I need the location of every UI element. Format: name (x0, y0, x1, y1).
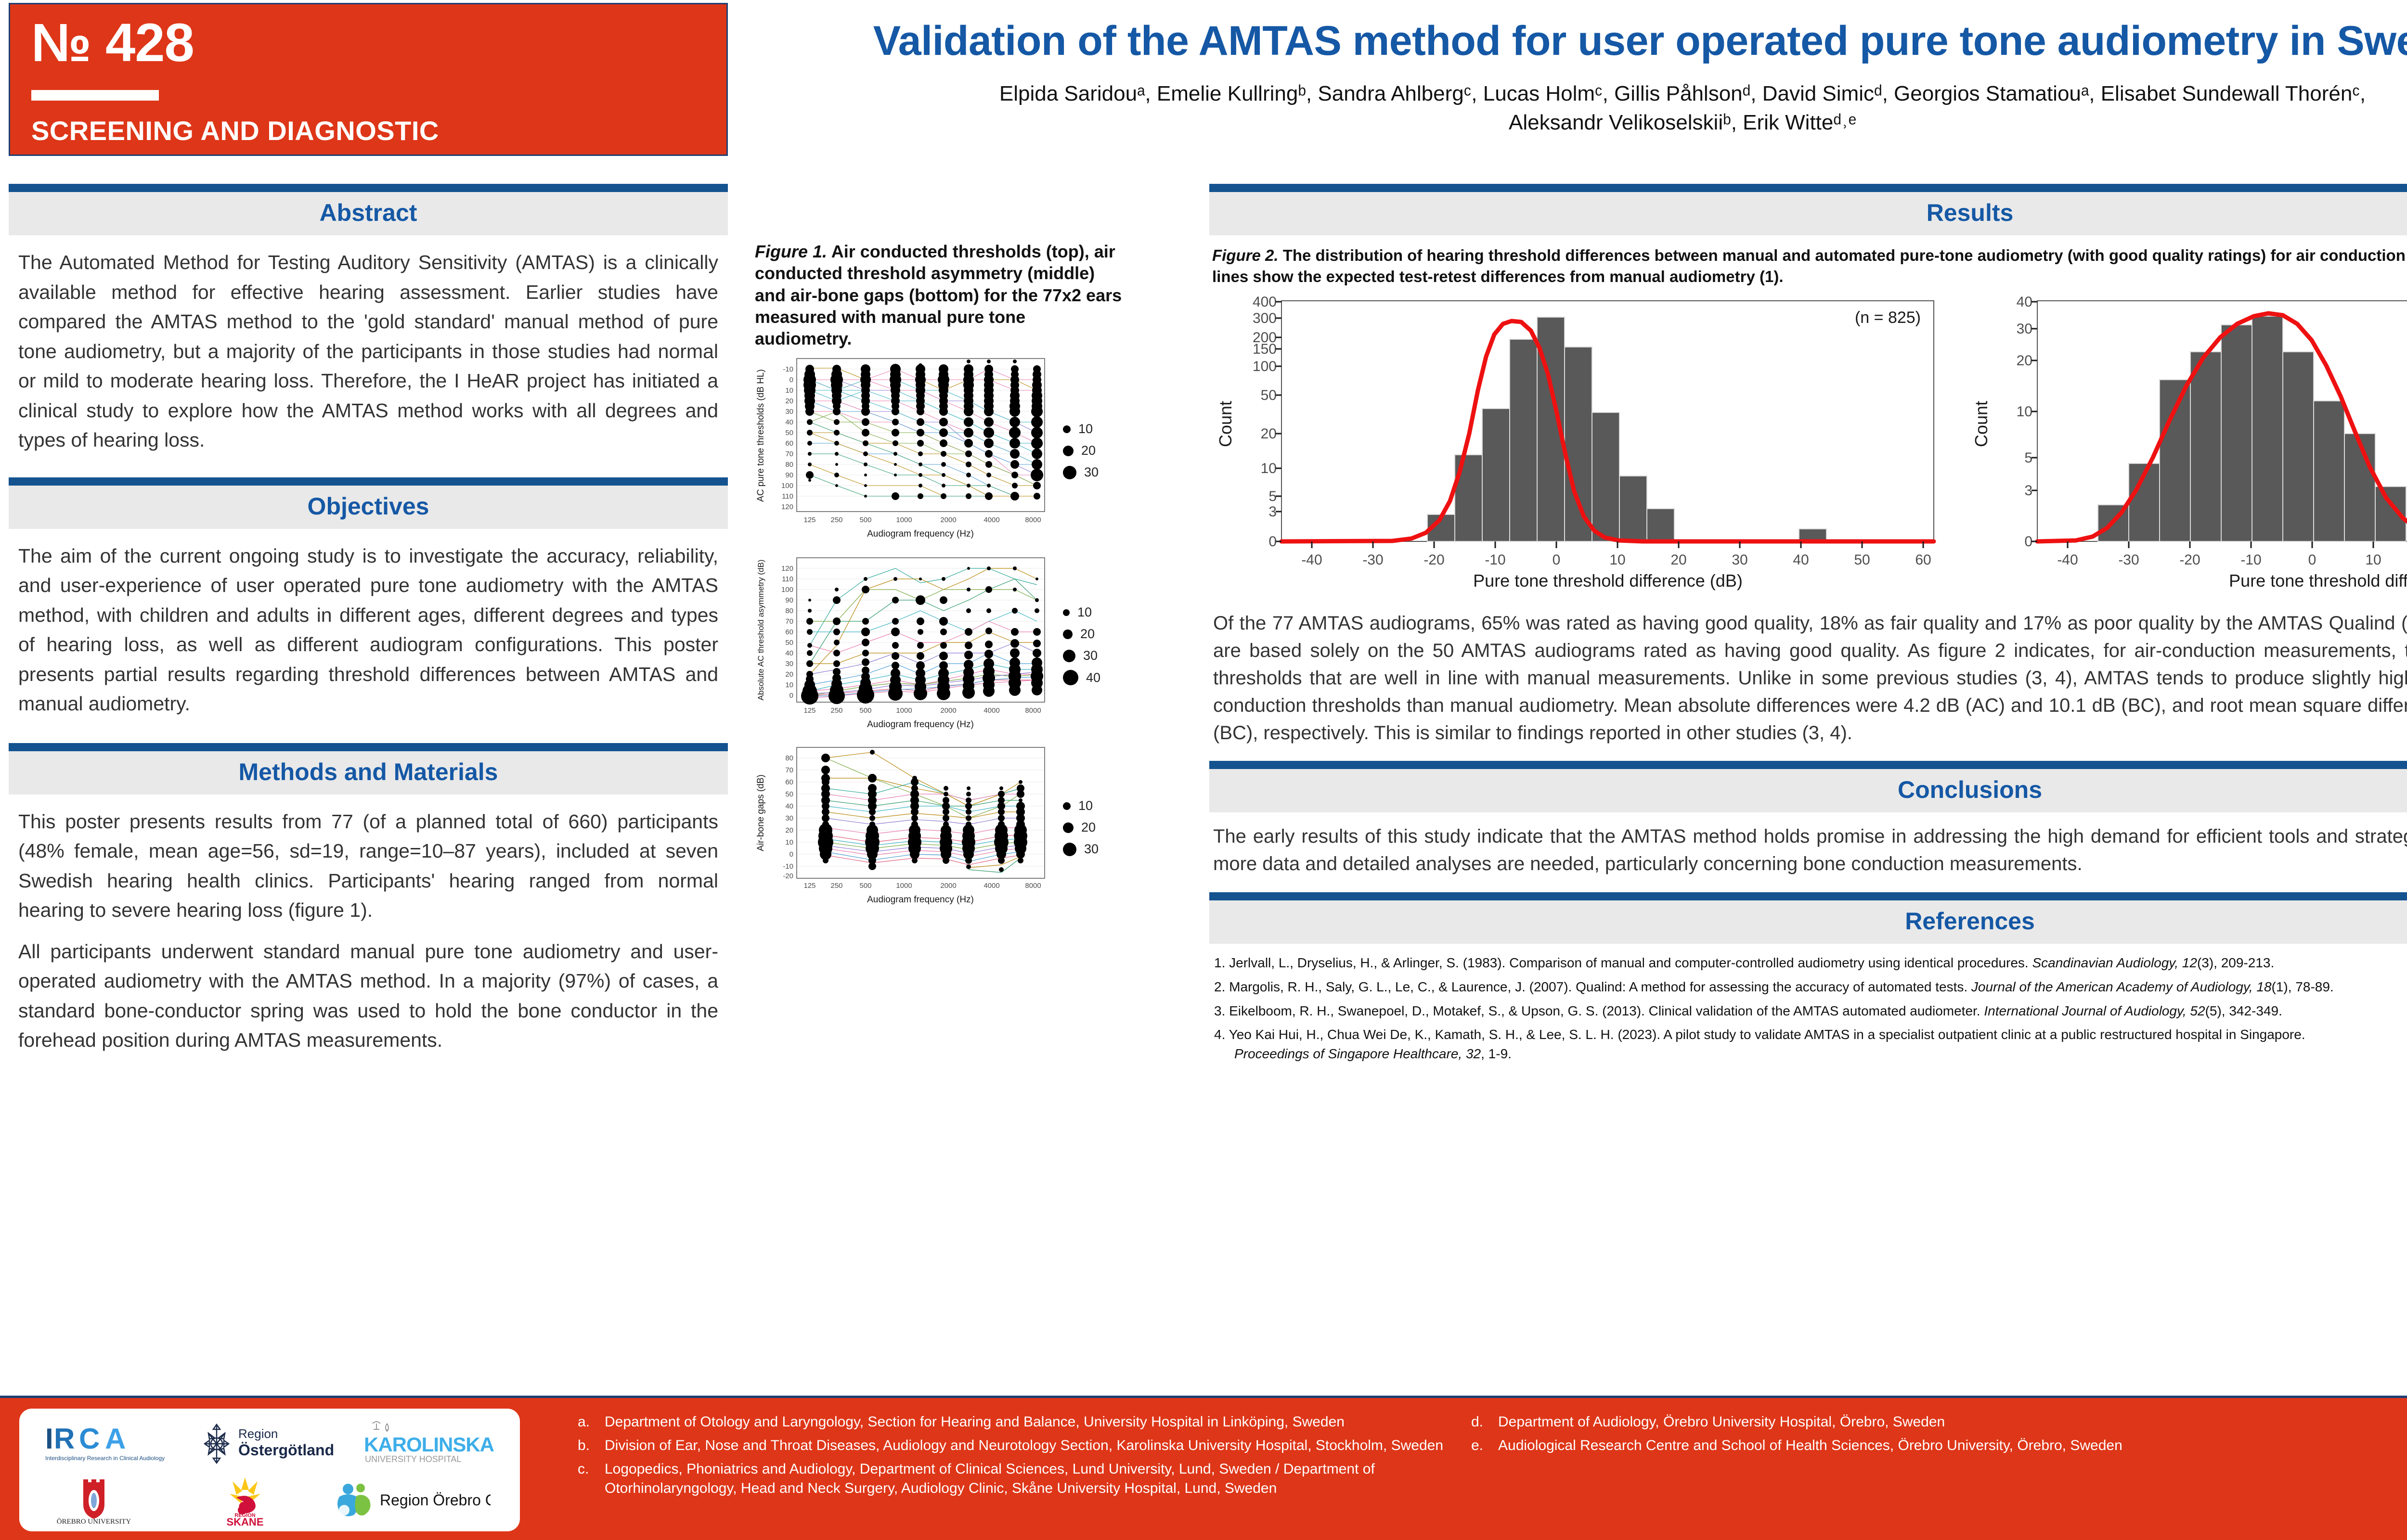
legend-label: 30 (1084, 842, 1099, 857)
objectives-text: The aim of the current ongoing study is … (9, 529, 728, 719)
legend-item: 20 (1063, 443, 1122, 458)
legend-bubble-icon (1063, 650, 1075, 662)
divider-rule (31, 90, 159, 101)
bc-hist-xlabel: Pure tone threshold difference (dB) (2229, 571, 2407, 590)
svg-text:8000: 8000 (1025, 882, 1041, 890)
bone-conduction-histogram: 403020 1053 0 (1965, 294, 2407, 597)
svg-text:I: I (45, 1423, 53, 1455)
section-header-objectives: Objectives (9, 477, 728, 529)
svg-text:125: 125 (803, 706, 815, 715)
svg-text:0: 0 (2024, 534, 2032, 550)
svg-text:110: 110 (782, 492, 793, 500)
affiliations-right: d. Department of Audiology, Örebro Unive… (1471, 1412, 2338, 1502)
svg-text:20: 20 (1261, 426, 1277, 442)
svg-text:50: 50 (1261, 387, 1277, 403)
svg-text:-10: -10 (2240, 552, 2261, 568)
conclusions-text: The early results of this study indicate… (1209, 812, 2407, 878)
svg-text:20: 20 (1670, 552, 1686, 568)
svg-text:120: 120 (781, 503, 793, 511)
svg-text:10: 10 (1609, 552, 1625, 568)
reference-journal: Proceedings of Singapore Healthcare, 32 (1234, 1046, 1481, 1061)
svg-text:4000: 4000 (984, 516, 999, 524)
section-header-conclusions: Conclusions (1209, 761, 2407, 812)
affiliations: a. Department of Otology and Laryngology… (578, 1412, 2359, 1502)
svg-text:60: 60 (1915, 552, 1931, 568)
figure2-caption-body: The distribution of hearing threshold di… (1212, 246, 2407, 285)
svg-text:1000: 1000 (896, 706, 912, 715)
svg-text:Östergötland: Östergötland (238, 1441, 334, 1459)
poster-number: № 428 (31, 16, 705, 70)
svg-text:500: 500 (859, 516, 871, 524)
orebro-university-logo: ÖREBRO UNIVERSITY (49, 1472, 159, 1529)
legend-item: 30 (1063, 842, 1122, 857)
figure1-column: Figure 1. Air conducted thresholds (top)… (751, 241, 1126, 912)
svg-text:150: 150 (1253, 341, 1277, 357)
legend-label: 30 (1084, 465, 1099, 480)
svg-text:1000: 1000 (896, 516, 912, 524)
svg-text:C: C (79, 1423, 100, 1455)
figure1-panel-ac-thresholds: -10010 203040 506070 8090100 110120 1252… (751, 355, 1126, 547)
legend-item: 10 (1063, 798, 1122, 813)
svg-text:40: 40 (2017, 294, 2032, 310)
legend-bubble-icon (1063, 609, 1070, 616)
affiliation-key: c. (578, 1460, 605, 1499)
legend-label: 20 (1080, 627, 1095, 642)
svg-text:400: 400 (1253, 294, 1277, 310)
right-column: Results Figure 2. The distribution of he… (1209, 184, 2407, 1068)
legend-bubble-icon (1063, 425, 1071, 433)
affiliation-text: Department of Otology and Laryngology, S… (605, 1412, 1444, 1432)
figure1-caption: Figure 1. Air conducted thresholds (top)… (751, 241, 1126, 355)
svg-text:110: 110 (782, 575, 793, 583)
svg-text:-20: -20 (783, 872, 793, 880)
figure1-caption-prefix: Figure 1. (755, 242, 827, 261)
svg-text:4000: 4000 (984, 706, 999, 715)
svg-text:125: 125 (803, 882, 815, 890)
legend-label: 40 (1086, 670, 1100, 685)
methods-paragraph-1: This poster presents results from 77 (of… (9, 795, 728, 925)
svg-text:30: 30 (1732, 552, 1747, 568)
svg-text:90: 90 (785, 471, 793, 479)
svg-text:-40: -40 (1301, 552, 1322, 568)
svg-text:70: 70 (785, 617, 793, 626)
poster-footer: I R C A Interdisciplinary Research in Cl… (0, 1396, 2407, 1540)
reference-text: 3. Eikelboom, R. H., Swanepoel, D., Mota… (1214, 1003, 1984, 1018)
svg-text:3: 3 (1268, 504, 1277, 520)
reference-text: 2. Margolis, R. H., Saly, G. L., Le, C.,… (1214, 979, 1971, 994)
ac-hist-xlabel: Pure tone threshold difference (dB) (1473, 571, 1743, 590)
reference-text: 1. Jerlvall, L., Dryselius, H., & Arling… (1214, 955, 2032, 970)
legend-item: 40 (1063, 670, 1122, 685)
svg-text:-10: -10 (783, 862, 793, 871)
svg-text:30: 30 (785, 660, 793, 668)
reference-pages: (5), 342-349. (2205, 1003, 2282, 1018)
figure2-charts: 400300200 15010050 20105 30 (1209, 290, 2407, 597)
reference-pages: (1), 78-89. (2272, 979, 2334, 994)
references-list: 1. Jerlvall, L., Dryselius, H., & Arling… (1209, 944, 2407, 1064)
svg-text:3: 3 (2024, 483, 2032, 499)
legend-label: 20 (1081, 443, 1096, 458)
legend-label: 10 (1077, 605, 1092, 620)
methods-paragraph-2: All participants underwent standard manu… (9, 925, 728, 1055)
svg-text:70: 70 (785, 766, 793, 774)
affiliation-item: b. Division of Ear, Nose and Throat Dise… (578, 1436, 1444, 1456)
legend-item: 30 (1063, 465, 1122, 480)
air-conduction-histogram: 400300200 15010050 20105 30 (1209, 294, 1946, 597)
svg-text:Region Örebro County: Region Örebro County (380, 1491, 491, 1509)
svg-text:5: 5 (2024, 450, 2032, 466)
affiliation-item: c. Logopedics, Phoniatrics and Audiology… (578, 1460, 1444, 1499)
poster-number-box: № 428 SCREENING AND DIAGNOSTIC (9, 3, 728, 156)
abstract-body: The Automated Method for Testing Auditor… (18, 251, 718, 451)
figure1-panel-ac-asymmetry: 120110100 908070 605040 302010 0 1252505… (751, 554, 1126, 737)
region-orebro-county-logo: Region Örebro County (332, 1472, 491, 1529)
affiliation-text: Logopedics, Phoniatrics and Audiology, D… (605, 1460, 1444, 1499)
reference-item: 2. Margolis, R. H., Saly, G. L., Le, C.,… (1214, 977, 2407, 997)
svg-text:-10: -10 (1485, 552, 1505, 568)
svg-text:80: 80 (785, 607, 793, 615)
svg-text:300: 300 (1253, 310, 1277, 326)
svg-text:2000: 2000 (940, 882, 956, 890)
section-header-results: Results (1209, 184, 2407, 235)
figure1-panel-air-bone-gaps: 807060 504030 20100 -10-20 125250500 100… (751, 744, 1126, 912)
ac-thresholds-xlabel: Audiogram frequency (Hz) (867, 529, 974, 539)
svg-text:40: 40 (785, 418, 793, 426)
reference-journal: International Journal of Audiology, 52 (1984, 1003, 2205, 1018)
svg-text:100: 100 (781, 586, 793, 594)
reference-item: 4. Yeo Kai Hui, H., Chua Wei De, K., Kam… (1214, 1025, 2407, 1064)
svg-text:50: 50 (785, 639, 793, 647)
svg-text:50: 50 (785, 790, 793, 798)
left-column: Abstract The Automated Method for Testin… (9, 184, 728, 1055)
affiliation-item: d. Department of Audiology, Örebro Unive… (1471, 1412, 2338, 1432)
svg-text:125: 125 (803, 516, 815, 524)
svg-text:50: 50 (785, 429, 793, 437)
affiliation-text: Department of Audiology, Örebro Universi… (1498, 1412, 2338, 1432)
svg-text:0: 0 (789, 850, 793, 859)
svg-text:8000: 8000 (1025, 706, 1041, 715)
svg-text:0: 0 (789, 692, 793, 700)
svg-text:UNIVERSITY HOSPITAL: UNIVERSITY HOSPITAL (365, 1454, 461, 1464)
svg-text:250: 250 (830, 516, 842, 524)
reference-journal: Journal of the American Academy of Audio… (1971, 979, 2272, 994)
legend-item: 20 (1063, 627, 1122, 642)
svg-text:120: 120 (781, 565, 793, 573)
svg-text:-10: -10 (783, 365, 793, 373)
legend-label: 10 (1078, 422, 1093, 436)
legend-bubble-icon (1063, 466, 1076, 479)
affiliation-item: a. Department of Otology and Laryngology… (578, 1412, 1444, 1432)
svg-text:0: 0 (1553, 552, 1561, 568)
svg-text:10: 10 (1261, 461, 1277, 476)
svg-text:250: 250 (830, 882, 842, 890)
reference-pages: (3), 209-213. (2197, 955, 2274, 970)
affiliation-item: e. Audiological Research Centre and Scho… (1471, 1436, 2338, 1456)
page-title: Validation of the AMTAS method for user … (751, 9, 2407, 63)
reference-item: 3. Eikelboom, R. H., Swanepoel, D., Mota… (1214, 1001, 2407, 1021)
ac-thresholds-ylabel: AC pure tone thresholds (dB HL) (756, 369, 766, 502)
legend-label: 10 (1078, 798, 1093, 813)
svg-text:ÖREBRO UNIVERSITY: ÖREBRO UNIVERSITY (57, 1517, 131, 1526)
reference-journal: Scandinavian Audiology, 12 (2032, 955, 2197, 970)
ac-thresholds-plot: -10010 203040 506070 8090100 110120 1252… (751, 355, 1054, 547)
reference-text: 4. Yeo Kai Hui, H., Chua Wei De, K., Kam… (1214, 1027, 2305, 1042)
svg-text:10: 10 (2365, 552, 2381, 568)
section-header-references: References (1209, 892, 2407, 944)
svg-text:A: A (105, 1423, 126, 1455)
affiliation-key: d. (1471, 1412, 1498, 1432)
svg-text:60: 60 (785, 628, 793, 636)
legend-bubble-icon (1063, 843, 1076, 856)
title-block: Validation of the AMTAS method for user … (751, 9, 2407, 167)
ac-asymmetry-xlabel: Audiogram frequency (Hz) (867, 719, 974, 730)
poster-track-label: SCREENING AND DIAGNOSTIC (31, 115, 705, 146)
sponsor-logos: I R C A Interdisciplinary Research in Cl… (19, 1409, 520, 1531)
legend-bubble-icon (1063, 670, 1078, 685)
svg-text:Region: Region (238, 1426, 278, 1441)
legend-item: 20 (1063, 820, 1122, 835)
svg-text:40: 40 (785, 802, 793, 810)
region-ostergotland-logo: Region Östergötland (195, 1415, 335, 1472)
svg-text:80: 80 (785, 461, 793, 469)
section-header-abstract: Abstract (9, 184, 728, 235)
author-line-2: Aleksandr Velikoselskiiᵇ, Erik Witteᵈ˒ᵉ (780, 108, 2407, 137)
svg-text:90: 90 (785, 596, 793, 604)
legend-item: 10 (1063, 605, 1122, 620)
results-text: Of the 77 AMTAS audiograms, 65% was rate… (1209, 597, 2407, 746)
figure2-caption-prefix: Figure 2. (1212, 246, 1279, 264)
svg-text:-30: -30 (2118, 552, 2139, 568)
svg-text:250: 250 (830, 706, 842, 715)
svg-text:100: 100 (1253, 359, 1277, 374)
legend-label: 30 (1083, 648, 1098, 663)
svg-text:1000: 1000 (896, 882, 912, 890)
svg-text:100: 100 (781, 482, 793, 490)
svg-text:0: 0 (1268, 534, 1277, 550)
svg-text:-30: -30 (1362, 552, 1383, 568)
author-list: Elpida Saridouᵃ, Emelie Kullringᵇ, Sandr… (751, 63, 2407, 137)
svg-text:-20: -20 (1423, 552, 1444, 568)
svg-text:2000: 2000 (940, 706, 956, 715)
section-header-methods: Methods and Materials (9, 743, 728, 795)
ac-hist-annotation: (n = 825) (1855, 308, 1921, 327)
svg-text:4000: 4000 (984, 882, 999, 890)
figure1-legend-panel3: 10 20 30 (1054, 792, 1122, 863)
legend-item: 30 (1063, 648, 1122, 663)
svg-text:500: 500 (859, 882, 871, 890)
svg-text:30: 30 (785, 408, 793, 416)
svg-text:0: 0 (789, 376, 793, 384)
svg-text:Interdisciplinary Research in: Interdisciplinary Research in Clinical A… (45, 1455, 165, 1462)
reference-continuation: Proceedings of Singapore Healthcare, 32,… (1214, 1044, 2407, 1064)
affiliation-text: Division of Ear, Nose and Throat Disease… (605, 1436, 1444, 1456)
figure1-legend-panel1: 10 20 30 (1054, 415, 1122, 487)
bc-hist-ylabel: Count (1971, 401, 1991, 447)
svg-text:10: 10 (785, 681, 793, 689)
svg-text:80: 80 (785, 754, 793, 762)
air-bone-gaps-plot: 807060 504030 20100 -10-20 125250500 100… (751, 744, 1054, 912)
svg-text:5: 5 (1268, 488, 1277, 504)
affiliation-key: a. (578, 1412, 605, 1432)
abstract-text: The Automated Method for Testing Auditor… (9, 235, 728, 455)
affiliation-key: b. (578, 1436, 605, 1456)
ac-asymmetry-plot: 120110100 908070 605040 302010 0 1252505… (751, 554, 1054, 737)
svg-text:20: 20 (785, 397, 793, 405)
svg-text:500: 500 (859, 706, 871, 715)
reference-pages: , 1-9. (1481, 1046, 1512, 1061)
svg-text:20: 20 (2017, 353, 2032, 369)
svg-text:40: 40 (1793, 552, 1809, 568)
author-line-1: Elpida Saridouᵃ, Emelie Kullringᵇ, Sandr… (780, 79, 2407, 108)
svg-text:60: 60 (785, 439, 793, 448)
legend-bubble-icon (1063, 802, 1071, 810)
svg-text:R: R (54, 1423, 75, 1455)
svg-text:30: 30 (2017, 321, 2032, 337)
ac-hist-ylabel: Count (1216, 401, 1235, 447)
region-skane-logo: REGION SKANE (201, 1472, 290, 1529)
affiliation-key: e. (1471, 1436, 1498, 1456)
air-bone-gaps-xlabel: Audiogram frequency (Hz) (867, 895, 974, 905)
ac-asymmetry-ylabel: Absolute AC threshold asymmetry (dB) (756, 559, 765, 700)
reference-item: 1. Jerlvall, L., Dryselius, H., & Arling… (1214, 953, 2407, 973)
svg-text:20: 20 (785, 826, 793, 834)
svg-text:40: 40 (785, 649, 793, 657)
svg-text:30: 30 (785, 814, 793, 822)
karolinska-logo: KAROLINSKA UNIVERSITY HOSPITAL (359, 1415, 499, 1472)
legend-item: 10 (1063, 422, 1122, 436)
irca-logo: I R C A Interdisciplinary Research in Cl… (40, 1415, 170, 1472)
svg-text:50: 50 (1854, 552, 1870, 568)
svg-text:KAROLINSKA: KAROLINSKA (364, 1433, 494, 1456)
svg-text:60: 60 (785, 778, 793, 786)
legend-bubble-icon (1063, 629, 1073, 639)
figure2-caption: Figure 2. The distribution of hearing th… (1209, 235, 2407, 290)
svg-text:10: 10 (785, 386, 793, 395)
svg-text:10: 10 (2017, 404, 2032, 420)
legend-bubble-icon (1063, 822, 1074, 833)
svg-text:8000: 8000 (1025, 516, 1041, 524)
svg-text:SKANE: SKANE (227, 1516, 264, 1526)
air-bone-gaps-ylabel: Air-bone gaps (dB) (756, 774, 766, 851)
poster-root: № 428 SCREENING AND DIAGNOSTIC Validatio… (0, 0, 2407, 1540)
affiliations-left: a. Department of Otology and Laryngology… (578, 1412, 1444, 1502)
affiliation-text: Audiological Research Centre and School … (1498, 1436, 2338, 1456)
figure1-legend-panel2: 10 20 30 40 (1054, 598, 1122, 692)
svg-text:70: 70 (785, 450, 793, 458)
svg-text:0: 0 (2308, 552, 2316, 568)
svg-text:10: 10 (785, 838, 793, 847)
svg-text:-40: -40 (2057, 552, 2078, 568)
legend-bubble-icon (1063, 446, 1074, 456)
legend-label: 20 (1081, 820, 1096, 835)
poster-header: № 428 SCREENING AND DIAGNOSTIC Validatio… (0, 0, 2407, 177)
svg-text:2000: 2000 (940, 516, 956, 524)
svg-text:20: 20 (785, 670, 793, 679)
svg-text:-20: -20 (2179, 552, 2200, 568)
